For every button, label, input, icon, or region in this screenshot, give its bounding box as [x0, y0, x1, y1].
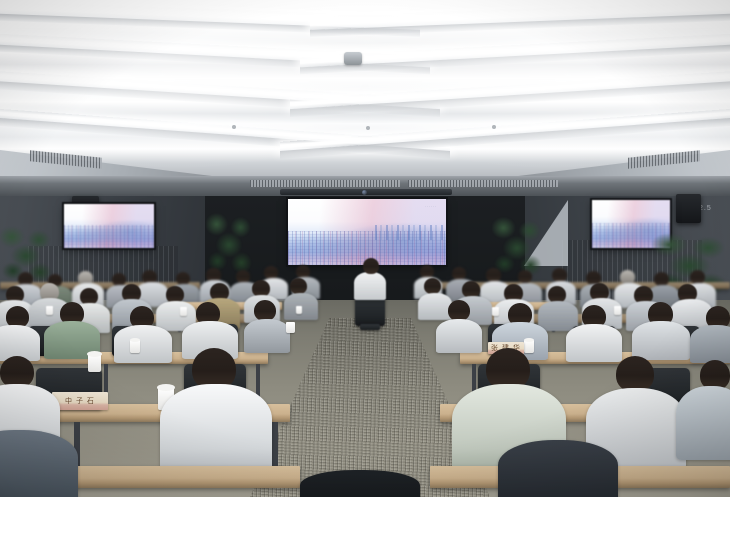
tea-cup — [286, 322, 295, 333]
attendee-head — [518, 270, 532, 283]
tea-cup — [614, 306, 621, 315]
attendee — [436, 319, 482, 353]
attendee-head — [552, 268, 567, 282]
attendee-head — [486, 268, 501, 282]
ceiling-speaker — [344, 52, 362, 65]
attendee — [244, 319, 290, 353]
attendee — [418, 293, 452, 320]
attendee — [114, 325, 172, 363]
attendee — [566, 324, 622, 362]
photo-letterbox — [0, 497, 730, 548]
attendee — [676, 386, 730, 460]
screen-watermark: ······ — [425, 204, 437, 209]
name-placard-left: 中 子 石 — [52, 392, 108, 410]
main-led-display: ······ — [288, 199, 446, 265]
city-detail-texture — [64, 225, 154, 248]
attendee — [300, 470, 420, 497]
tea-cup — [46, 306, 53, 315]
attendee — [0, 430, 78, 497]
screenshot-canvas: 2.5 ······ — [0, 0, 730, 548]
air-vent-grille — [250, 180, 400, 187]
attendee-head — [616, 356, 654, 392]
attendee-front-center — [354, 272, 386, 300]
left-side-display — [64, 204, 154, 248]
attendee — [498, 440, 618, 497]
attendee-head — [654, 272, 669, 286]
wall-speaker — [676, 194, 701, 223]
air-vent-grille — [408, 180, 558, 187]
attendee-head — [620, 270, 635, 284]
tea-cup — [296, 306, 302, 314]
city-skyline — [375, 225, 443, 240]
attendee-head — [690, 270, 705, 284]
attendee-head — [254, 300, 276, 321]
attendee — [538, 301, 578, 331]
conference-room-photo: 2.5 ······ — [0, 0, 730, 497]
camera-icon — [362, 190, 367, 195]
tea-cup-lid — [524, 338, 534, 342]
attendee-head — [363, 258, 379, 274]
attendee-head — [290, 278, 307, 294]
chair-base — [360, 324, 380, 330]
tea-cup — [180, 307, 187, 316]
ceiling-sensor-icon — [232, 125, 236, 129]
attendee-head — [448, 300, 470, 321]
tea-cup-lid — [130, 338, 140, 342]
tea-cup — [492, 307, 499, 316]
tea-cup-lid — [157, 384, 175, 391]
ceiling-sensor-icon — [366, 126, 370, 130]
ceiling-sensor-icon — [492, 125, 496, 129]
attendee — [160, 384, 272, 476]
attendee — [632, 321, 690, 360]
name-placard-left-text: 中 子 石 — [65, 398, 95, 405]
attendee-head — [424, 278, 441, 294]
tea-cup-lid — [87, 351, 102, 357]
attendee — [690, 325, 730, 363]
